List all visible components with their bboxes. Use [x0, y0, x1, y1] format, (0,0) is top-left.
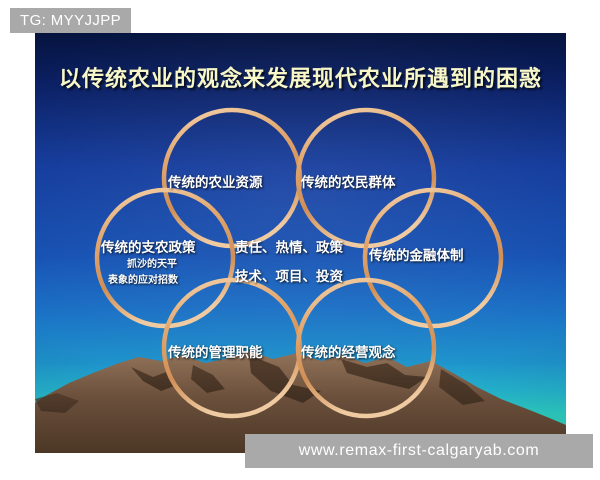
- venn-label-middle-right: 传统的金融体制: [369, 244, 464, 264]
- venn-sublabel-middle-left-2: 表象的应对招数: [108, 271, 178, 286]
- watermark-bar: www.remax-first-calgaryab.com: [245, 434, 593, 468]
- presentation-slide: 以传统农业的观念来发展现代农业所遇到的困惑 传统的农业资源: [35, 33, 566, 453]
- venn-label-bottom-right: 传统的经营观念: [301, 341, 396, 361]
- venn-sublabel-middle-left-1: 抓沙的天平: [127, 255, 177, 270]
- venn-label-top-right: 传统的农民群体: [301, 171, 396, 191]
- venn-label-middle-left: 传统的支农政策: [101, 236, 196, 256]
- slide-viewer: TG: MYYJJPP: [0, 0, 600, 480]
- slide-title: 以传统农业的观念来发展现代农业所遇到的困惑: [35, 61, 566, 93]
- venn-label-bottom-left: 传统的管理职能: [168, 341, 263, 361]
- watermark-url: www.remax-first-calgaryab.com: [299, 442, 540, 460]
- venn-center-line-1: 责任、热情、政策: [235, 236, 343, 256]
- venn-label-top-left: 传统的农业资源: [168, 171, 263, 191]
- tg-channel-label: TG: MYYJJPP: [20, 12, 121, 29]
- venn-center-line-2: 技术、项目、投资: [235, 265, 343, 285]
- tg-channel-banner: TG: MYYJJPP: [10, 8, 131, 33]
